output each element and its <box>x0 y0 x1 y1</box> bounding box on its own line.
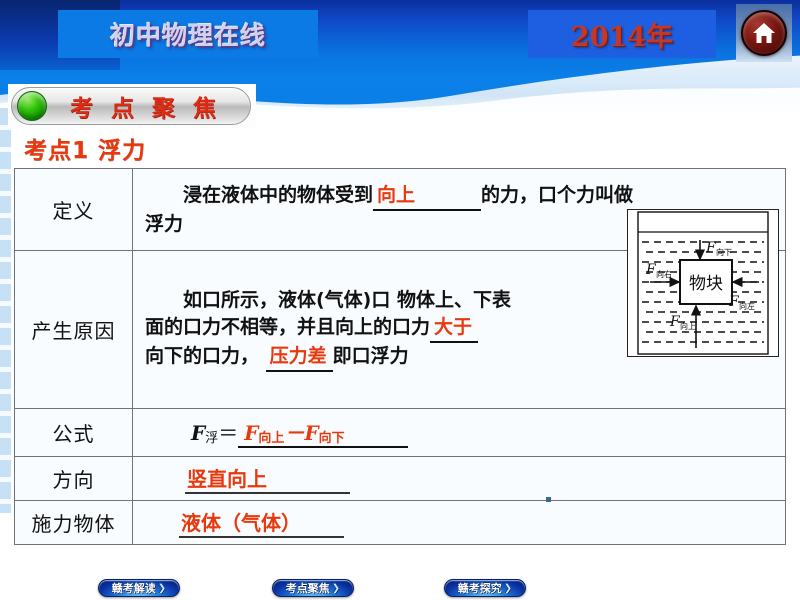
row-content-cell: 液体（气体） <box>133 501 786 545</box>
green-dot-icon <box>17 91 47 121</box>
home-glyph <box>751 21 777 45</box>
year-badge: 2014年 <box>528 10 716 58</box>
diagram-force-down-subscript: 向下 <box>716 247 732 257</box>
direction-answer[interactable]: 竖直向上 <box>185 463 350 494</box>
buoyancy-table: 定义 浸在液体中的物体受到向上的力，口个力叫做 浮力 产生原因 <box>14 168 786 545</box>
formula-lhs-symbol: F <box>191 421 205 445</box>
formula-operator: － <box>284 421 304 445</box>
formula-rhs-symbol-1: F <box>244 421 258 445</box>
site-logo: 初中物理在线 <box>58 10 318 58</box>
chevron-right-icon: ❯ <box>504 583 512 594</box>
row-label-cell: 施力物体 <box>15 501 133 545</box>
row-label-cell: 公式 <box>15 409 133 457</box>
cause-wrapper: 如口所示，液体(气体)口 物体上、下表 面的口力不相等，并且向上的口力大于 向下… <box>133 281 785 378</box>
formula-lhs-subscript: 浮 <box>205 431 218 446</box>
force-diagram-svg: 物块 F 向下 F 向右 F <box>628 210 778 356</box>
diagram-force-right-subscript: 向右 <box>656 269 672 279</box>
direction-answer-wrap: 竖直向上 <box>133 463 785 494</box>
table-row: 施力物体 液体（气体） <box>15 501 786 545</box>
home-button[interactable] <box>736 4 792 62</box>
row-label: 施力物体 <box>15 506 132 539</box>
force-diagram: 物块 F 向下 F 向右 F <box>627 209 779 357</box>
nav-button-label: 赣考探究 <box>458 580 502 596</box>
table-row: 产生原因 如口所示，液体(气体)口 物体上、下表 面的口力不相等，并且向上的口力… <box>15 251 786 409</box>
row-label: 方向 <box>15 462 132 495</box>
row-content-cell: 竖直向上 <box>133 457 786 501</box>
page-title: 考点1 浮力 <box>24 131 146 165</box>
formula-blank-answer[interactable]: F向上－F向下 <box>238 417 408 448</box>
row-content-cell: 如口所示，液体(气体)口 物体上、下表 面的口力不相等，并且向上的口力大于 向下… <box>133 251 786 409</box>
home-icon[interactable] <box>741 10 787 56</box>
nav-button-kaoduan-tanjiu[interactable]: 赣考探究 ❯ <box>444 579 526 597</box>
definition-pre: 浸在液体中的物体受到 <box>183 184 373 206</box>
year-badge-text: 2014年 <box>571 15 673 54</box>
chevron-right-icon: ❯ <box>158 583 166 594</box>
row-label: 产生原因 <box>15 313 132 346</box>
nav-button-kaodian-jujiao[interactable]: 考点聚焦 ❯ <box>272 579 354 597</box>
nav-button-label: 考点聚焦 <box>286 580 330 596</box>
diagram-block-label: 物块 <box>689 274 723 294</box>
left-decorative-strip <box>0 108 11 513</box>
section-pill: 考 点 聚 焦 <box>11 87 251 125</box>
cause-line2-pre: 面的口力不相等，并且向上的口力 <box>145 316 430 338</box>
cause-blank-answer-1[interactable]: 大于 <box>430 314 478 343</box>
nav-button-label: 赣考解读 <box>112 580 156 596</box>
row-label-cell: 产生原因 <box>15 251 133 409</box>
agent-answer[interactable]: 液体（气体） <box>179 507 344 538</box>
cause-blank-answer-2[interactable]: 压力差 <box>266 343 333 372</box>
formula-text: F浮＝F向上－F向下 <box>133 417 785 448</box>
formula-rhs-subscript-2: 向下 <box>319 431 345 446</box>
row-label-cell: 定义 <box>15 169 133 251</box>
row-label: 定义 <box>15 193 132 226</box>
slide-root: 初中物理在线 2014年 考 点 聚 焦 考点1 浮力 <box>0 0 800 600</box>
table-row: 方向 竖直向上 <box>15 457 786 501</box>
cause-text: 如口所示，液体(气体)口 物体上、下表 面的口力不相等，并且向上的口力大于 向下… <box>133 281 603 378</box>
cause-line3-post: 即口浮力 <box>333 345 409 367</box>
diagram-force-up-subscript: 向上 <box>680 321 696 331</box>
definition-post: 的力，口个力叫做 <box>481 184 633 206</box>
agent-answer-wrap: 液体（气体） <box>133 507 785 538</box>
formula-equals: ＝ <box>218 421 238 445</box>
chevron-right-icon: ❯ <box>332 583 340 594</box>
row-label: 公式 <box>15 416 132 449</box>
definition-blank-answer[interactable]: 向上 <box>373 182 481 211</box>
cause-line3-pre: 向下的口力， <box>145 345 259 367</box>
table-row: 公式 F浮＝F向上－F向下 <box>15 409 786 457</box>
diagram-force-left-subscript: 向左 <box>739 301 755 311</box>
cause-line1: 如口所示，液体(气体)口 物体上、下表 <box>183 289 511 311</box>
row-label-cell: 方向 <box>15 457 133 501</box>
site-logo-text: 初中物理在线 <box>110 16 266 52</box>
section-pill-container: 考 点 聚 焦 <box>8 84 256 128</box>
row-content-cell: F浮＝F向上－F向下 <box>133 409 786 457</box>
formula-rhs-subscript-1: 向上 <box>258 431 284 446</box>
stray-mark <box>546 497 551 502</box>
nav-button-kaoduan-jiedu[interactable]: 赣考解读 ❯ <box>98 579 180 597</box>
definition-line2: 浮力 <box>145 213 183 235</box>
section-pill-label: 考 点 聚 焦 <box>47 89 250 123</box>
formula-rhs-symbol-2: F <box>304 421 318 445</box>
